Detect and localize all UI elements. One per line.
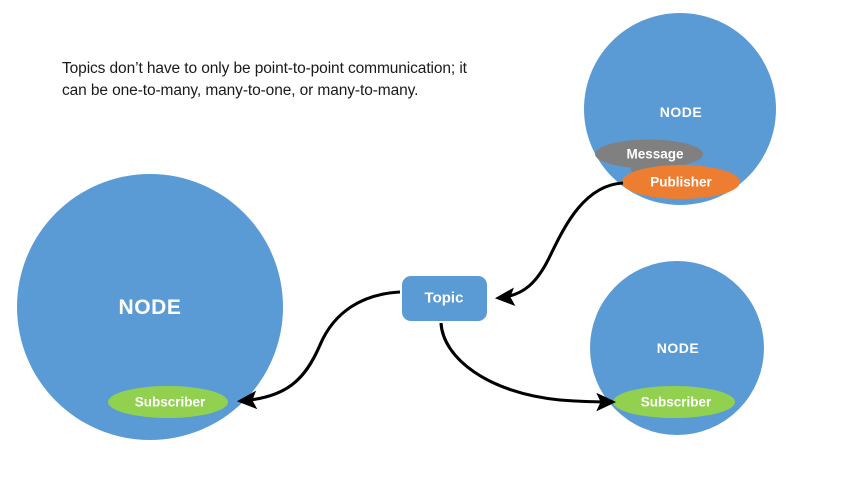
arrow-topic-to-right-subscriber (441, 323, 613, 402)
arrow-publisher-to-topic (498, 183, 623, 298)
message-ellipse[interactable] (595, 140, 703, 169)
topic-box[interactable] (402, 276, 487, 321)
publisher-ellipse[interactable] (622, 165, 740, 199)
slide-caption: Topics don’t have to only be point-to-po… (62, 58, 492, 103)
subscriber-ellipse-right[interactable] (613, 386, 735, 418)
slide-canvas: Topics don’t have to only be point-to-po… (0, 0, 854, 480)
subscriber-ellipse-left[interactable] (108, 386, 228, 418)
